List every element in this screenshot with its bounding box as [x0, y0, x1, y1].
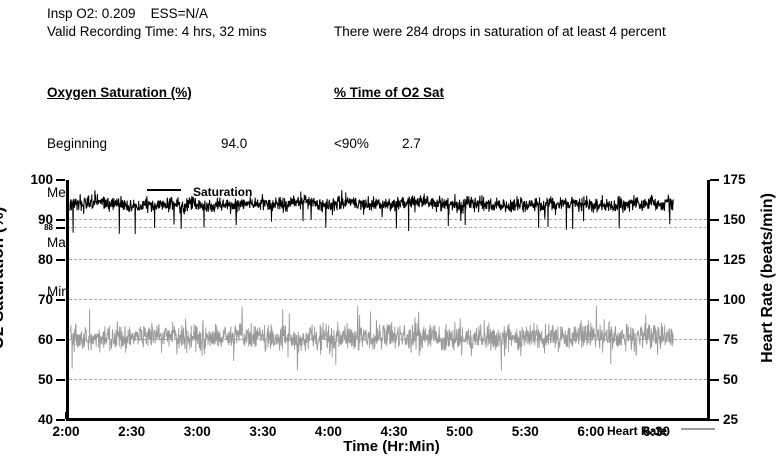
insp-o2-line: Insp O2: 0.209 ESS=N/A [47, 6, 208, 22]
legend-heart-rate: Heart Rate [607, 423, 715, 438]
y-tick-left [56, 379, 65, 381]
y-tick-left [56, 299, 65, 301]
y-tick-label-right: 100 [723, 293, 746, 307]
x-tick-label: 4:00 [298, 425, 358, 439]
y-tick-label-left: 80 [38, 253, 53, 267]
y-tick-right [710, 339, 719, 341]
y-tick-label-right: 50 [723, 373, 738, 387]
data-traces [69, 180, 706, 417]
legend-line-icon [147, 189, 181, 191]
trace-heart-rate [70, 306, 673, 371]
plot-area: Saturation Heart Rate [66, 180, 710, 421]
y-tick-left [56, 339, 65, 341]
y-tick-label-right: 25 [723, 413, 738, 427]
y-tick-left [56, 259, 65, 261]
y-tick-label-left: 100 [30, 173, 53, 187]
legend-saturation: Saturation [147, 184, 252, 199]
legend-saturation-label: Saturation [193, 185, 252, 199]
y-axis-label-left: O2 Saturation (%) [0, 207, 8, 350]
y-tick-label-right: 75 [723, 333, 738, 347]
oximetry-chart: O2 Saturation (%) Heart Rate (beats/min)… [0, 150, 783, 461]
y-tick-label-right: 175 [723, 173, 746, 187]
y-tick-left [56, 219, 65, 221]
desaturation-drops-line: There were 284 drops in saturation of at… [334, 24, 666, 40]
y-tick-right [710, 219, 719, 221]
percent-time-table-title: % Time of O2 Sat [334, 85, 564, 102]
y-tick-right [710, 179, 719, 181]
oxygen-saturation-table-title: Oxygen Saturation (%) [47, 85, 327, 102]
y-tick-left [56, 227, 65, 229]
report-header: Insp O2: 0.209 ESS=N/A Valid Recording T… [0, 0, 783, 48]
x-tick-label: 2:30 [102, 425, 162, 439]
y-tick-label-right: 150 [723, 213, 746, 227]
legend-heart-rate-label: Heart Rate [607, 424, 667, 438]
legend-line-icon [681, 428, 715, 430]
x-tick-label: 5:00 [430, 425, 490, 439]
y-tick-label-left: 70 [38, 293, 53, 307]
x-tick-label: 4:30 [364, 425, 424, 439]
summary-tables: Oxygen Saturation (%) Beginning 94.0 Mea… [0, 48, 783, 148]
x-tick-label: 3:00 [167, 425, 227, 439]
y-tick-right [710, 379, 719, 381]
y-axis-label-right: Heart Rate (beats/min) [759, 193, 777, 363]
x-axis-label: Time (Hr:Min) [0, 438, 783, 455]
y-tick-label-left: 60 [38, 333, 53, 347]
y-tick-right [710, 299, 719, 301]
y-tick-left [56, 419, 65, 421]
y-tick-left [56, 179, 65, 181]
y-tick-label-left: 88 [44, 224, 53, 232]
y-tick-right [710, 259, 719, 261]
plot-inner [69, 180, 707, 418]
valid-recording-time-line: Valid Recording Time: 4 hrs, 32 mins [47, 24, 267, 40]
x-tick-label: 5:30 [495, 425, 555, 439]
y-tick-right [710, 419, 719, 421]
y-tick-label-left: 50 [38, 373, 53, 387]
y-tick-label-right: 125 [723, 253, 746, 267]
x-tick-label: 2:00 [36, 425, 96, 439]
x-tick-label: 3:30 [233, 425, 293, 439]
